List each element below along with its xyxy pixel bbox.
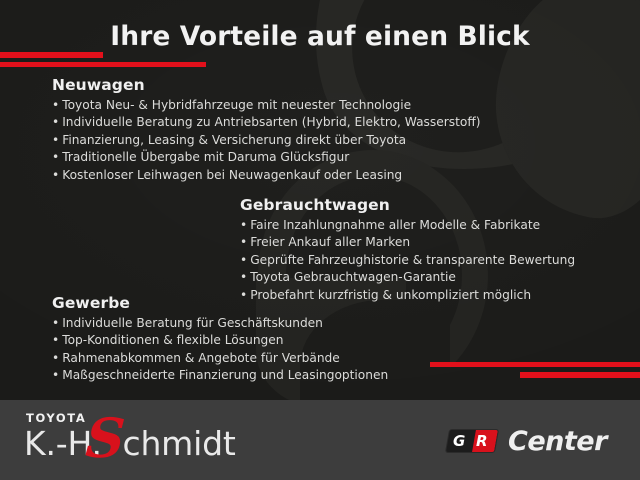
bullet-icon: • [52,115,59,129]
list-item-label: Toyota Gebrauchtwagen-Garantie [250,270,456,284]
gr-center-label: Center [508,426,607,457]
bullet-icon: • [240,253,247,267]
dealer-name: K.-H.Schmidt [24,424,236,463]
list-item-label: Individuelle Beratung zu Antriebsarten (… [62,115,480,129]
section-heading-gebrauchtwagen: Gebrauchtwagen [240,196,575,214]
benefit-list-gewerbe: •Individuelle Beratung für Geschäftskund… [52,315,388,385]
bullet-icon: • [52,98,59,112]
accent-bar-bottom-right-lower [520,372,640,378]
footer-bar: TOYOTA K.-H.Schmidt S G R Center [0,400,640,480]
list-item-label: Rahmenabkommen & Angebote für Verbände [62,351,340,365]
list-item-label: Maßgeschneiderte Finanzierung und Leasin… [62,368,388,382]
list-item: •Individuelle Beratung zu Antriebsarten … [52,114,481,131]
list-item-label: Toyota Neu- & Hybridfahrzeuge mit neuest… [62,98,411,112]
section-gewerbe: Gewerbe •Individuelle Beratung für Gesch… [52,294,388,385]
section-heading-neuwagen: Neuwagen [52,76,481,94]
bullet-icon: • [52,351,59,365]
bullet-icon: • [52,168,59,182]
bullet-icon: • [52,133,59,147]
gr-badge-icon: G R [446,430,498,452]
list-item: •Freier Ankauf aller Marken [240,234,575,251]
bullet-icon: • [52,333,59,347]
list-item-label: Individuelle Beratung für Geschäftskunde… [62,316,323,330]
list-item-label: Freier Ankauf aller Marken [250,235,410,249]
dealer-logo: TOYOTA K.-H.Schmidt S [24,411,254,469]
advert-slide: Ihre Vorteile auf einen Blick Neuwagen •… [0,0,640,480]
list-item-label: Kostenloser Leihwagen bei Neuwagenkauf o… [62,168,402,182]
list-item-label: Top-Konditionen & flexible Lösungen [62,333,283,347]
dealer-name-suffix: chmidt [123,424,236,463]
gr-center-logo: G R Center [448,426,607,456]
section-neuwagen: Neuwagen •Toyota Neu- & Hybridfahrzeuge … [52,76,481,184]
list-item-label: Finanzierung, Leasing & Versicherung dir… [62,133,406,147]
section-gebrauchtwagen: Gebrauchtwagen •Faire Inzahlungnahme all… [240,196,575,304]
list-item-label: Geprüfte Fahrzeughistorie & transparente… [250,253,575,267]
gr-badge-letter-g: G [453,430,465,452]
gr-badge-letter-r: R [476,430,488,452]
list-item: •Geprüfte Fahrzeughistorie & transparent… [240,252,575,269]
list-item: •Individuelle Beratung für Geschäftskund… [52,315,388,332]
list-item: •Top-Konditionen & flexible Lösungen [52,332,388,349]
bullet-icon: • [52,150,59,164]
bullet-icon: • [52,316,59,330]
list-item-label: Traditionelle Übergabe mit Daruma Glücks… [62,150,349,164]
bullet-icon: • [240,270,247,284]
bullet-icon: • [52,368,59,382]
section-heading-gewerbe: Gewerbe [52,294,388,312]
list-item-label: Faire Inzahlungnahme aller Modelle & Fab… [250,218,540,232]
page-title: Ihre Vorteile auf einen Blick [0,21,640,52]
accent-bar-top-left-lower [0,62,206,67]
dealer-logo-s-mark: S [84,411,127,465]
accent-bar-bottom-right-upper [430,362,640,367]
toyota-wordmark: TOYOTA [26,411,86,425]
list-item: •Finanzierung, Leasing & Versicherung di… [52,132,481,149]
list-item: •Maßgeschneiderte Finanzierung und Leasi… [52,367,388,384]
list-item: •Kostenloser Leihwagen bei Neuwagenkauf … [52,167,481,184]
bullet-icon: • [240,235,247,249]
list-item: •Rahmenabkommen & Angebote für Verbände [52,350,388,367]
accent-bar-top-left-upper [0,52,103,58]
list-item: •Traditionelle Übergabe mit Daruma Glück… [52,149,481,166]
list-item: •Faire Inzahlungnahme aller Modelle & Fa… [240,217,575,234]
bullet-icon: • [240,218,247,232]
benefit-list-gebrauchtwagen: •Faire Inzahlungnahme aller Modelle & Fa… [240,217,575,304]
benefit-list-neuwagen: •Toyota Neu- & Hybridfahrzeuge mit neues… [52,97,481,184]
list-item: •Toyota Gebrauchtwagen-Garantie [240,269,575,286]
list-item: •Toyota Neu- & Hybridfahrzeuge mit neues… [52,97,481,114]
